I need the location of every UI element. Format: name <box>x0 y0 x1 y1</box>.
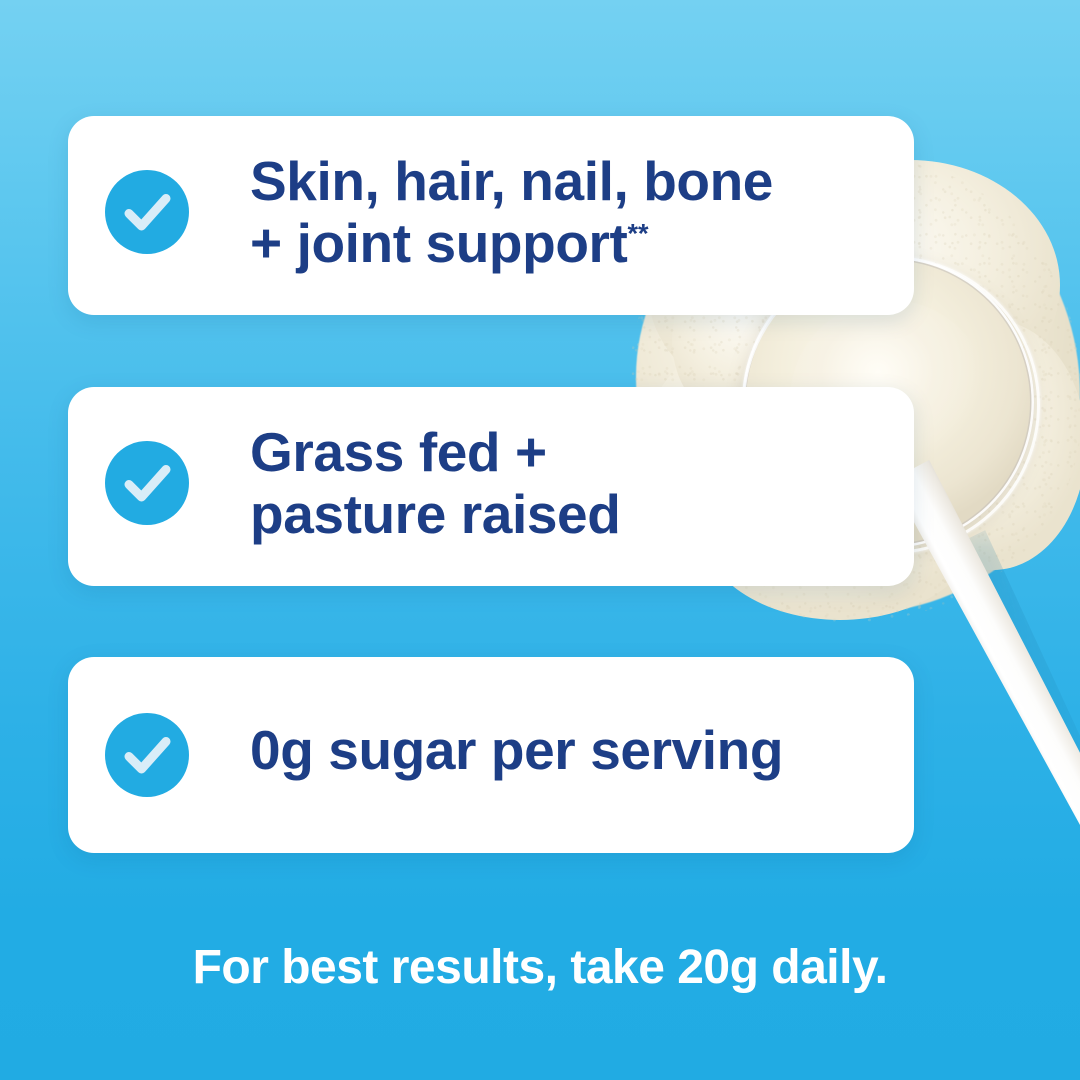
check-icon <box>105 170 189 254</box>
powder-lobe <box>900 320 1080 570</box>
benefit-text: 0g sugar per serving <box>250 719 783 781</box>
benefit-line-1: Skin, hair, nail, bone <box>250 150 773 212</box>
benefit-line-1: Grass fed + <box>250 421 547 483</box>
benefit-card[interactable]: Grass fed +pasture raised <box>68 387 914 586</box>
benefit-line-1: 0g sugar per serving <box>250 719 783 781</box>
benefit-card[interactable]: 0g sugar per serving <box>68 657 914 853</box>
check-icon <box>105 713 189 797</box>
check-icon <box>105 441 189 525</box>
benefit-line-2: pasture raised <box>250 483 620 545</box>
product-benefits-graphic: Skin, hair, nail, bone+ joint support** … <box>0 0 1080 1080</box>
footer-caption: For best results, take 20g daily. <box>0 940 1080 996</box>
benefit-card[interactable]: Skin, hair, nail, bone+ joint support** <box>68 116 914 315</box>
benefit-line-2: + joint support <box>250 212 627 274</box>
benefit-text: Skin, hair, nail, bone+ joint support** <box>250 150 773 274</box>
benefit-superscript: ** <box>627 219 648 249</box>
benefit-text: Grass fed +pasture raised <box>250 421 620 545</box>
